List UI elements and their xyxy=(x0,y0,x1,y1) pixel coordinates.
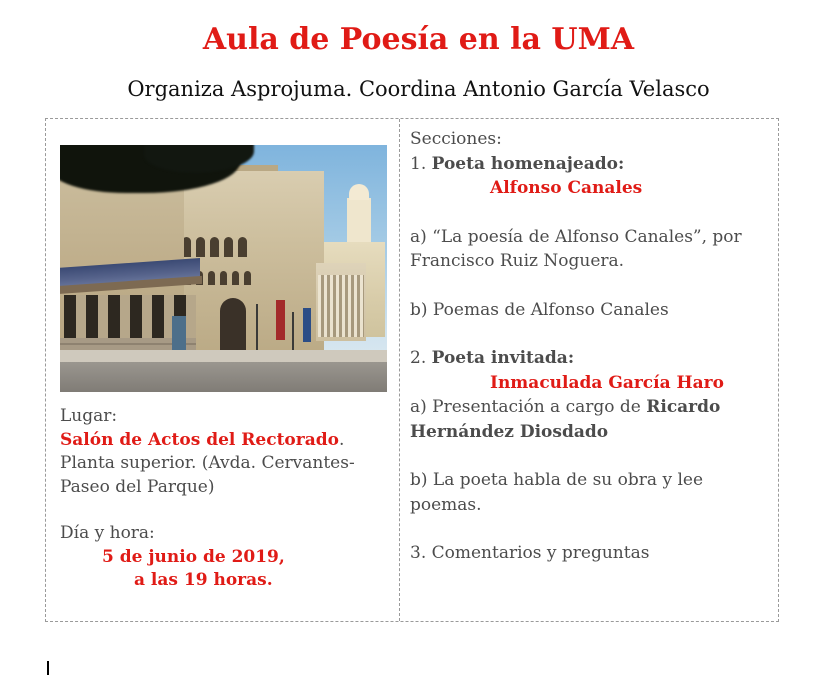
item-1b: b) Poemas de Alfonso Canales xyxy=(410,300,669,320)
dia-y-hora-label: Día y hora: xyxy=(60,523,155,543)
sections-text-block: Secciones: 1. Poeta homenajeado: Alfonso… xyxy=(410,127,768,566)
arched-window xyxy=(196,237,205,257)
venue-name: Salón de Actos del Rectorado xyxy=(60,430,339,450)
table-cell-sections: Secciones: 1. Poeta homenajeado: Alfonso… xyxy=(400,119,778,621)
item-2-title: Poeta invitada: xyxy=(432,348,574,368)
item-2-number: 2. xyxy=(410,348,432,368)
venue-detail-line-1: Planta superior. (Avda. Cervantes- xyxy=(60,453,355,473)
item-1-poet-name: Alfonso Canales xyxy=(410,176,768,201)
arched-window xyxy=(232,271,239,285)
red-banner xyxy=(276,300,285,340)
page-subtitle: Organiza Asprojuma. Coordina Antonio Gar… xyxy=(0,76,837,102)
item-2b-line-1: b) La poeta habla de su obra y lee xyxy=(410,470,703,490)
colonnade-columns xyxy=(318,275,364,337)
text-cursor-caret xyxy=(47,661,49,675)
page-title: Aula de Poesía en la UMA xyxy=(0,22,837,58)
venue-period: . xyxy=(339,430,344,450)
spacer xyxy=(410,201,768,225)
venue-detail-line-2: Paseo del Parque) xyxy=(60,477,214,497)
item-2a-presenter-part-1: Ricardo xyxy=(646,397,720,417)
spacer xyxy=(410,444,768,468)
item-3: 3. Comentarios y preguntas xyxy=(410,543,649,563)
item-1-number: 1. xyxy=(410,154,432,174)
venue-text-block: Lugar: Salón de Actos del Rectorado. Pla… xyxy=(60,405,386,593)
item-2a-prefix: a) Presentación a cargo de xyxy=(410,397,646,417)
arched-window xyxy=(220,271,227,285)
arched-window xyxy=(208,271,215,285)
spacer xyxy=(60,499,386,522)
item-2-poet-name: Inmaculada García Haro xyxy=(410,371,768,396)
item-2b-line-2: poemas. xyxy=(410,495,482,515)
entrance-portal xyxy=(220,298,246,352)
event-time: a las 19 horas. xyxy=(60,569,386,593)
table-cell-venue: Lugar: Salón de Actos del Rectorado. Pla… xyxy=(46,119,400,621)
road-layer xyxy=(60,362,387,392)
spacer xyxy=(410,517,768,541)
rectorado-building-photo xyxy=(60,145,387,392)
blue-banner xyxy=(303,308,311,342)
arched-window xyxy=(224,237,233,257)
item-1a-line-1: a) “La poesía de Alfonso Canales”, por xyxy=(410,227,742,247)
arched-window xyxy=(244,271,251,285)
arched-window xyxy=(238,237,247,257)
event-date: 5 de junio de 2019, xyxy=(60,546,386,570)
lugar-label: Lugar: xyxy=(60,406,117,426)
item-2a-presenter-part-2: Hernández Diosdado xyxy=(410,422,608,442)
arched-window xyxy=(210,237,219,257)
spacer xyxy=(410,274,768,298)
item-1a-line-2: Francisco Ruiz Noguera. xyxy=(410,251,624,271)
photo-canvas xyxy=(60,145,387,392)
poster-page: Aula de Poesía en la UMA Organiza Asproj… xyxy=(0,0,837,675)
spacer xyxy=(410,322,768,346)
item-1-title: Poeta homenajeado: xyxy=(432,154,625,174)
info-table: Lugar: Salón de Actos del Rectorado. Pla… xyxy=(45,118,779,622)
sections-label: Secciones: xyxy=(410,129,502,149)
window-row-upper xyxy=(182,237,247,257)
